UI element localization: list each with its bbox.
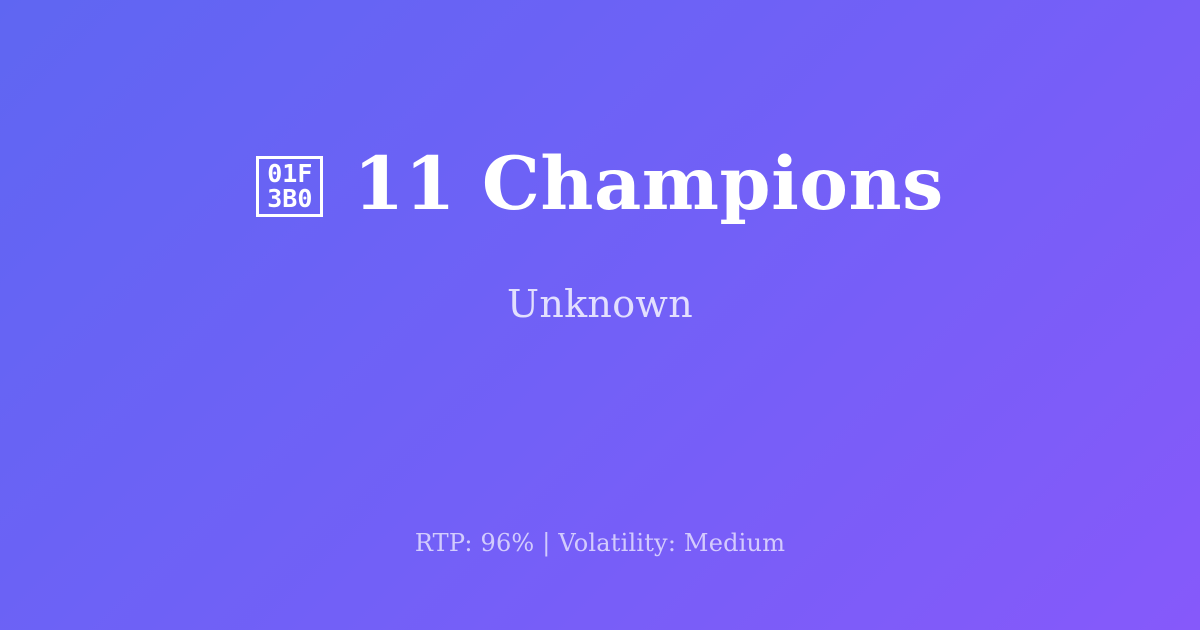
tofu-hex-bottom: 3B0 [267, 186, 312, 211]
slot-machine-icon: 01F 3B0 [256, 156, 323, 217]
hero-section: 01F 3B0 11 Champions Unknown [0, 0, 1200, 470]
headline-row: 01F 3B0 11 Champions [256, 144, 943, 224]
tofu-hex-top: 01F [267, 161, 312, 186]
game-title: 11 Champions [353, 144, 943, 224]
meta-footer: RTP: 96% | Volatility: Medium [0, 528, 1200, 558]
game-meta-line: RTP: 96% | Volatility: Medium [415, 529, 785, 557]
game-share-card: 01F 3B0 11 Champions Unknown RTP: 96% | … [0, 0, 1200, 630]
game-subtitle: Unknown [507, 282, 693, 326]
